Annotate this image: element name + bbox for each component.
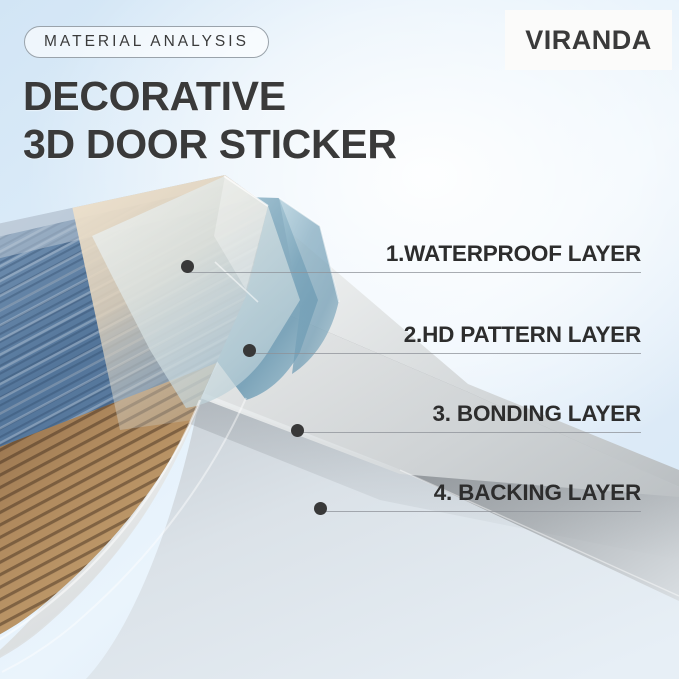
callout-rule	[320, 511, 641, 512]
callout-waterproof-layer: 1.WATERPROOF LAYER	[187, 233, 679, 273]
brand-logo: VIRANDA	[505, 10, 672, 70]
eyebrow-badge: MATERIAL ANALYSIS	[24, 26, 269, 58]
callout-label: 1.WATERPROOF LAYER	[386, 241, 641, 267]
eyebrow-label: MATERIAL ANALYSIS	[44, 33, 249, 51]
page-title-line-2: 3D DOOR STICKER	[23, 121, 397, 168]
page-title-line-1: DECORATIVE	[23, 73, 286, 120]
callout-rule	[297, 432, 641, 433]
callout-dot-waterproof-layer	[181, 260, 194, 273]
callout-dot-hd-pattern-layer	[243, 344, 256, 357]
callout-rule	[187, 272, 641, 273]
material-analysis-infographic: MATERIAL ANALYSIS DECORATIVE 3D DOOR STI…	[0, 0, 679, 679]
callout-dot-backing-layer	[314, 502, 327, 515]
callout-hd-pattern-layer: 2.HD PATTERN LAYER	[249, 314, 679, 354]
callout-label: 3. BONDING LAYER	[432, 401, 641, 427]
callout-label: 4. BACKING LAYER	[434, 480, 641, 506]
callout-bonding-layer: 3. BONDING LAYER	[297, 393, 679, 433]
callout-dot-bonding-layer	[291, 424, 304, 437]
callout-backing-layer: 4. BACKING LAYER	[320, 472, 679, 512]
callout-rule	[249, 353, 641, 354]
brand-name: VIRANDA	[525, 25, 652, 56]
callout-label: 2.HD PATTERN LAYER	[404, 322, 641, 348]
